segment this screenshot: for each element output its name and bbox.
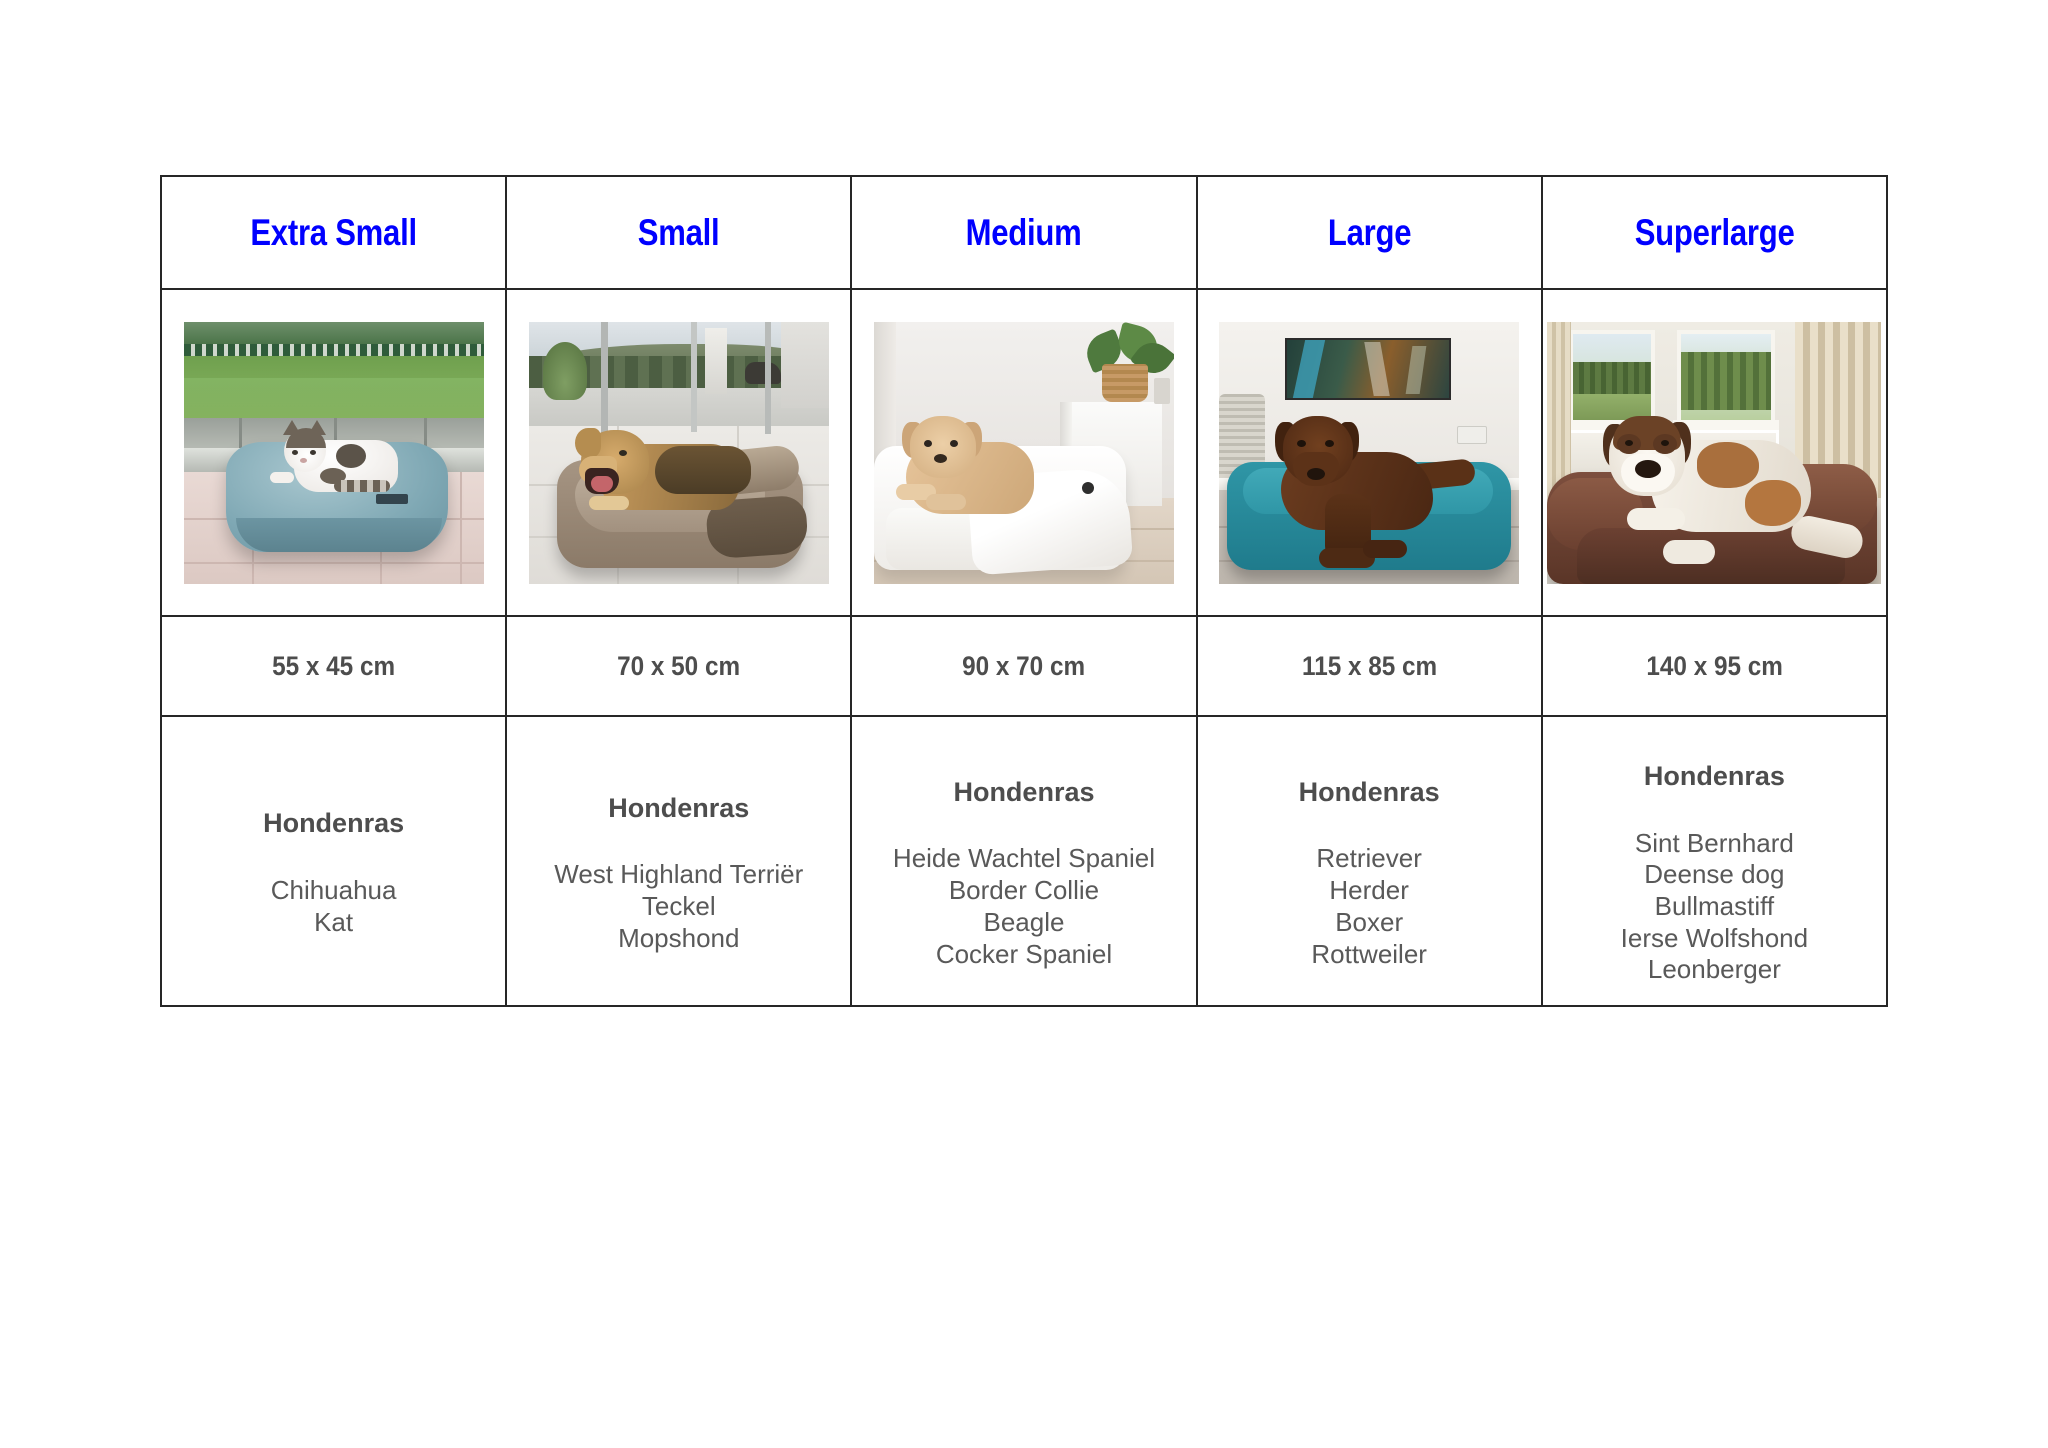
breed-item: Rottweiler: [1206, 939, 1533, 971]
breed-list: West Highland Terriër Teckel Mopshond: [515, 859, 842, 954]
photo-wrap: [162, 290, 505, 615]
photo-cell-small: [506, 289, 851, 616]
breeds-cell-superlarge: Hondenras Sint Bernhard Deense dog Bullm…: [1542, 716, 1887, 1006]
breed-section-title: Hondenras: [1206, 778, 1533, 808]
breed-item: Boxer: [1206, 907, 1533, 939]
dog-bed-size-table: Extra Small Small Medium Large Superlarg…: [160, 175, 1888, 1007]
breed-item: Bullmastiff: [1551, 891, 1878, 923]
breed-item: West Highland Terriër: [515, 859, 842, 891]
photo-cell-extra-small: [161, 289, 506, 616]
breeds-row: Hondenras Chihuahua Kat Hondenras West H…: [161, 716, 1887, 1006]
product-photo-medium: [874, 322, 1174, 584]
dimensions-label: 90 x 70 cm: [875, 651, 1173, 682]
breeds-cell-medium: Hondenras Heide Wachtel Spaniel Border C…: [851, 716, 1196, 1006]
photo-cell-medium: [851, 289, 1196, 616]
breed-list: Chihuahua Kat: [170, 875, 497, 938]
size-cell-large: Large: [1197, 176, 1542, 289]
breed-list: Retriever Herder Boxer Rottweiler: [1206, 843, 1533, 970]
breed-item: Leonberger: [1551, 954, 1878, 986]
size-name-label: Superlarge: [1575, 212, 1853, 254]
dimensions-label: 55 x 45 cm: [185, 651, 483, 682]
breed-section-title: Hondenras: [170, 809, 497, 839]
photo-wrap: [1543, 290, 1886, 615]
dimensions-label: 140 x 95 cm: [1565, 651, 1863, 682]
photo-wrap: [1198, 290, 1541, 615]
breed-item: Beagle: [860, 907, 1187, 939]
product-photo-row: [161, 289, 1887, 616]
size-name-label: Extra Small: [194, 212, 472, 254]
breed-item: Sint Bernhard: [1551, 828, 1878, 860]
breeds-cell-extra-small: Hondenras Chihuahua Kat: [161, 716, 506, 1006]
dimensions-label: 115 x 85 cm: [1220, 651, 1518, 682]
dimensions-cell-large: 115 x 85 cm: [1197, 616, 1542, 716]
breed-item: Ierse Wolfshond: [1551, 923, 1878, 955]
size-name-row: Extra Small Small Medium Large Superlarg…: [161, 176, 1887, 289]
photo-wrap: [507, 290, 850, 615]
size-cell-extra-small: Extra Small: [161, 176, 506, 289]
breed-item: Chihuahua: [170, 875, 497, 907]
breed-section-title: Hondenras: [860, 778, 1187, 808]
photo-cell-large: [1197, 289, 1542, 616]
size-cell-small: Small: [506, 176, 851, 289]
breed-section-title: Hondenras: [1551, 762, 1878, 792]
breed-item: Kat: [170, 907, 497, 939]
page-root: Extra Small Small Medium Large Superlarg…: [0, 0, 2048, 1448]
size-name-label: Small: [540, 212, 818, 254]
size-name-label: Medium: [885, 212, 1163, 254]
size-cell-medium: Medium: [851, 176, 1196, 289]
breed-item: Cocker Spaniel: [860, 939, 1187, 971]
dimensions-cell-superlarge: 140 x 95 cm: [1542, 616, 1887, 716]
breed-item: Heide Wachtel Spaniel: [860, 843, 1187, 875]
breeds-cell-small: Hondenras West Highland Terriër Teckel M…: [506, 716, 851, 1006]
photo-wrap: [852, 290, 1195, 615]
breed-list: Heide Wachtel Spaniel Border Collie Beag…: [860, 843, 1187, 970]
dimensions-cell-small: 70 x 50 cm: [506, 616, 851, 716]
dimensions-cell-extra-small: 55 x 45 cm: [161, 616, 506, 716]
dimensions-row: 55 x 45 cm 70 x 50 cm 90 x 70 cm 115 x 8…: [161, 616, 1887, 716]
product-photo-superlarge: [1547, 322, 1881, 584]
photo-cell-superlarge: [1542, 289, 1887, 616]
size-name-label: Large: [1230, 212, 1508, 254]
breed-item: Herder: [1206, 875, 1533, 907]
breed-section-title: Hondenras: [515, 794, 842, 824]
breed-item: Border Collie: [860, 875, 1187, 907]
breeds-cell-large: Hondenras Retriever Herder Boxer Rottwei…: [1197, 716, 1542, 1006]
breed-item: Retriever: [1206, 843, 1533, 875]
dimensions-label: 70 x 50 cm: [530, 651, 828, 682]
dimensions-cell-medium: 90 x 70 cm: [851, 616, 1196, 716]
breed-item: Mopshond: [515, 923, 842, 955]
size-cell-superlarge: Superlarge: [1542, 176, 1887, 289]
breed-item: Teckel: [515, 891, 842, 923]
breed-list: Sint Bernhard Deense dog Bullmastiff Ier…: [1551, 828, 1878, 987]
product-photo-large: [1219, 322, 1519, 584]
breed-item: Deense dog: [1551, 859, 1878, 891]
product-photo-small: [529, 322, 829, 584]
product-photo-extra-small: [184, 322, 484, 584]
